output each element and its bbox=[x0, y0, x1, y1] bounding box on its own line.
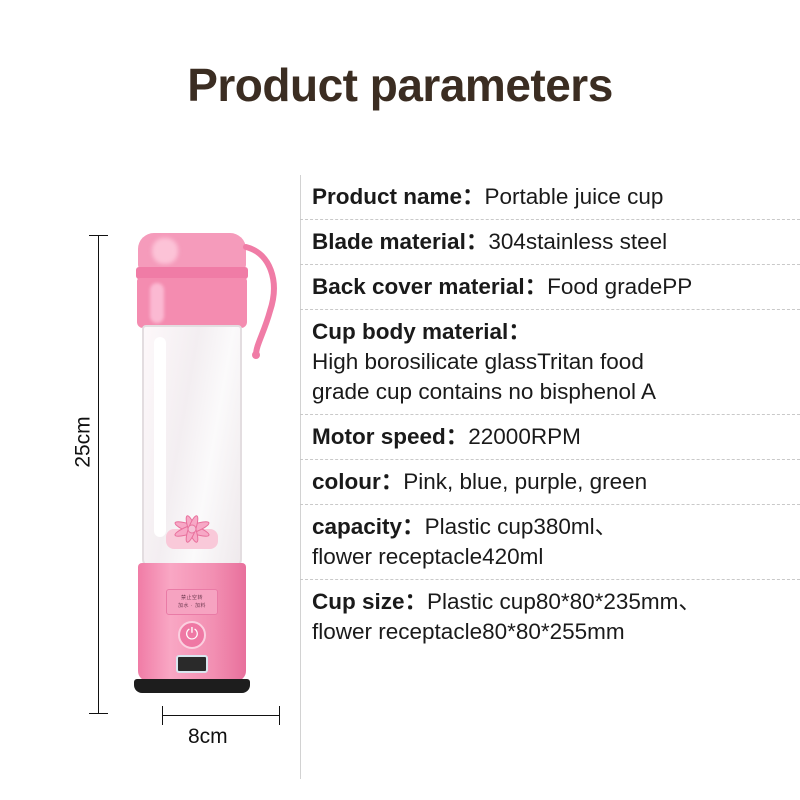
table-row-blade-material: Blade material：304stainless steel bbox=[300, 220, 800, 265]
width-dimension-line bbox=[162, 715, 279, 716]
spec-value-line2: flower receptacle420ml bbox=[312, 542, 800, 572]
spec-line: Cup body material： bbox=[312, 317, 800, 347]
spec-label: colour： bbox=[312, 469, 403, 494]
base-warning-label: 禁止空转 加水 · 加料 bbox=[166, 589, 218, 615]
spec-value: Plastic cup380ml、 bbox=[425, 514, 618, 539]
spec-label: Blade material： bbox=[312, 229, 488, 254]
spec-line: colour：Pink, blue, purple, green bbox=[312, 467, 800, 497]
spec-value: 22000RPM bbox=[468, 424, 581, 449]
spec-label: Back cover material： bbox=[312, 274, 547, 299]
spec-value-line3: grade cup contains no bisphenol A bbox=[312, 377, 800, 407]
portable-juice-cup-image: 禁止空转 加水 · 加料 ⏻ bbox=[122, 233, 262, 708]
base-warning-line2: 加水 · 加料 bbox=[167, 602, 217, 610]
spec-value: Pink, blue, purple, green bbox=[403, 469, 647, 494]
height-dimension-cap-top bbox=[89, 235, 108, 236]
spec-label: Cup body material： bbox=[312, 319, 531, 344]
wrist-strap-icon bbox=[240, 241, 286, 359]
spec-value: Portable juice cup bbox=[485, 184, 664, 209]
spec-line: Cup size：Plastic cup80*80*235mm、 bbox=[312, 587, 800, 617]
usb-port bbox=[176, 655, 208, 673]
spec-label: capacity： bbox=[312, 514, 425, 539]
lid-highlight bbox=[152, 238, 178, 264]
table-row-motor-speed: Motor speed：22000RPM bbox=[300, 415, 800, 460]
spec-line: capacity：Plastic cup380ml、 bbox=[312, 512, 800, 542]
spec-label: Product name： bbox=[312, 184, 485, 209]
page-title: Product parameters bbox=[0, 58, 800, 112]
blade-icon bbox=[172, 509, 212, 549]
spec-label: Motor speed： bbox=[312, 424, 468, 449]
glass-highlight bbox=[154, 337, 166, 537]
product-parameters-table: Product name：Portable juice cup Blade ma… bbox=[300, 175, 800, 654]
spec-line: Product name：Portable juice cup bbox=[312, 182, 800, 212]
height-dimension-cap-bottom bbox=[89, 713, 108, 714]
table-row-product-name: Product name：Portable juice cup bbox=[300, 175, 800, 220]
spec-value: Plastic cup80*80*235mm、 bbox=[427, 589, 701, 614]
base-warning-line1: 禁止空转 bbox=[167, 594, 217, 602]
height-dimension-label: 25cm bbox=[72, 416, 96, 467]
base-foot bbox=[134, 679, 250, 693]
spec-line: Blade material：304stainless steel bbox=[312, 227, 800, 257]
spec-value-line2: flower receptacle80*80*255mm bbox=[312, 617, 800, 647]
table-row-colour: colour：Pink, blue, purple, green bbox=[300, 460, 800, 505]
table-row-back-cover-material: Back cover material：Food gradePP bbox=[300, 265, 800, 310]
table-row-cup-body-material: Cup body material： High borosilicate gla… bbox=[300, 310, 800, 415]
table-row-capacity: capacity：Plastic cup380ml、 flower recept… bbox=[300, 505, 800, 580]
width-dimension-cap-right bbox=[279, 706, 280, 725]
spec-value-line2: High borosilicate glassTritan food bbox=[312, 347, 800, 377]
width-dimension-label: 8cm bbox=[188, 725, 228, 749]
spec-label: Cup size： bbox=[312, 589, 427, 614]
spec-line: Back cover material：Food gradePP bbox=[312, 272, 800, 302]
spec-value: 304stainless steel bbox=[488, 229, 667, 254]
spec-value: Food gradePP bbox=[547, 274, 692, 299]
power-icon: ⏻ bbox=[178, 621, 206, 649]
collar-highlight bbox=[150, 283, 164, 323]
height-dimension-line bbox=[98, 235, 99, 713]
width-dimension-cap-left bbox=[162, 706, 163, 725]
table-row-cup-size: Cup size：Plastic cup80*80*235mm、 flower … bbox=[300, 580, 800, 654]
product-figure: 25cm 8cm 禁止空转 加水 · 加料 bbox=[60, 215, 300, 775]
spec-line: Motor speed：22000RPM bbox=[312, 422, 800, 452]
